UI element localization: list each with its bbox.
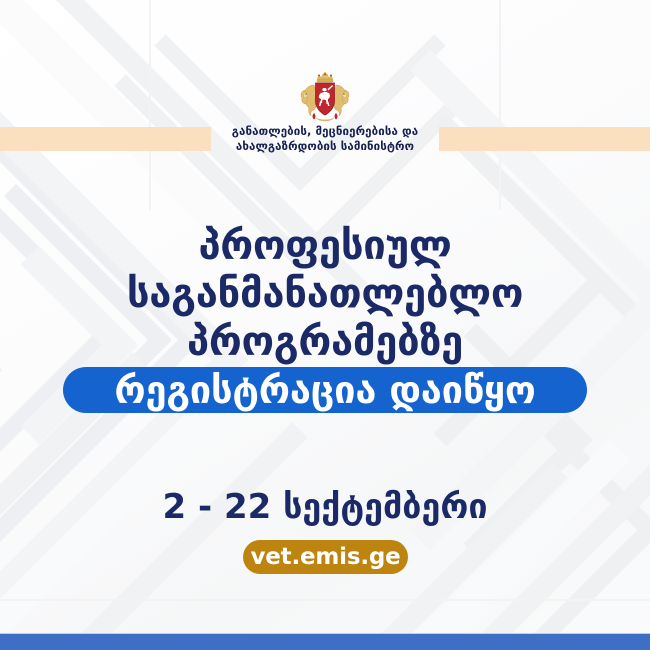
emblem-container [0, 70, 650, 126]
headline: პროფესიულ საგანმანათლებლო პროგრამებზე [0, 222, 650, 366]
ministry-name: განათლების, მეცნიერებისა და ახალგაზრდობი… [0, 124, 650, 154]
headline-line-3: პროგრამებზე [0, 318, 650, 366]
headline-line-2: საგანმანათლებლო [0, 270, 650, 318]
website-url-badge[interactable]: vet.emis.ge [243, 540, 408, 574]
bottom-accent-bar [0, 633, 650, 650]
ministry-name-line-2: ახალგაზრდობის სამინისტრო [0, 139, 650, 154]
registration-open-badge: რეგისტრაცია დაიწყო [63, 367, 587, 413]
georgia-coat-of-arms-icon [299, 70, 351, 126]
registration-date-range: 2 - 22 სექტემბერი [0, 487, 650, 527]
headline-line-1: პროფესიულ [0, 222, 650, 270]
poster-canvas: განათლების, მეცნიერებისა და ახალგაზრდობი… [0, 0, 650, 650]
ministry-name-line-1: განათლების, მეცნიერებისა და [0, 124, 650, 139]
